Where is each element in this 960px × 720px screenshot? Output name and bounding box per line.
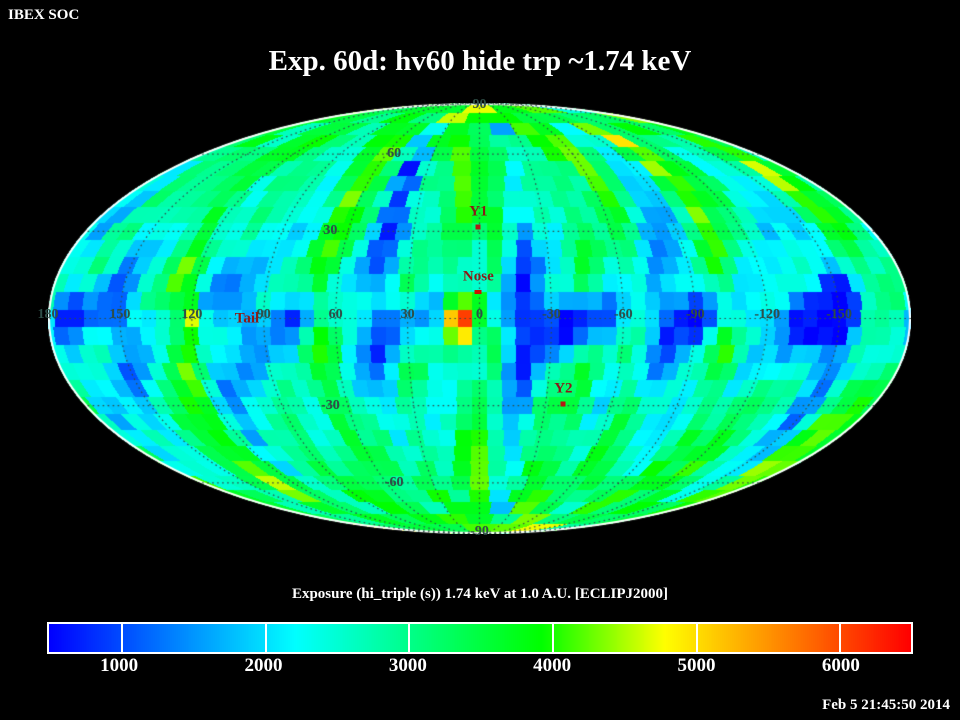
screenshot-root: IBEX SOC Exp. 60d: hv60 hide trp ~1.74 k… xyxy=(0,0,960,720)
colorbar-divider-4000 xyxy=(552,624,554,652)
latitude-label-30: 30 xyxy=(323,223,337,239)
longitude-label-0: 0 xyxy=(476,307,483,323)
longitude-label-150: 150 xyxy=(109,307,130,323)
poi-label-y1: Y1 xyxy=(469,204,487,221)
latitude-label-neg30: -30 xyxy=(321,398,340,414)
colorbar-tick-1000: 1000 xyxy=(100,655,138,677)
ibex-soc-watermark: IBEX SOC xyxy=(8,7,79,24)
latitude-label-90: 90 xyxy=(473,97,487,113)
poi-label-nose: Nose xyxy=(463,269,494,286)
longitude-label-30: 30 xyxy=(401,307,415,323)
colorbar-divider-6000 xyxy=(839,624,841,652)
longitude-label-120: 120 xyxy=(181,307,202,323)
colorbar-gradient xyxy=(49,624,911,652)
render-timestamp: Feb 5 21:45:50 2014 xyxy=(822,697,950,714)
poi-marker-y1 xyxy=(476,225,481,230)
longitude-label-neg150: -150 xyxy=(826,307,852,323)
longitude-label-neg60: -60 xyxy=(614,307,633,323)
mollweide-exposure-map: 60300-30-60-90-120-15018015012090906030-… xyxy=(48,103,911,534)
colorbar-divider-1000 xyxy=(121,624,123,652)
colorbar-tick-4000: 4000 xyxy=(533,655,571,677)
colorbar-divider-2000 xyxy=(265,624,267,652)
latitude-label-60: 60 xyxy=(387,146,401,162)
latitude-label-neg60: -60 xyxy=(385,475,404,491)
map-label-overlay: 60300-30-60-90-120-15018015012090906030-… xyxy=(48,103,911,534)
colorbar xyxy=(47,622,913,654)
longitude-label-neg90: -90 xyxy=(686,307,705,323)
latitude-label-neg90: -90 xyxy=(470,524,489,540)
poi-label-tail: Tail xyxy=(235,310,259,327)
longitude-label-180: 180 xyxy=(38,307,59,323)
colorbar-caption: Exposure (hi_triple (s)) 1.74 keV at 1.0… xyxy=(0,586,960,603)
longitude-label-neg120: -120 xyxy=(754,307,780,323)
colorbar-divider-3000 xyxy=(408,624,410,652)
colorbar-divider-5000 xyxy=(696,624,698,652)
poi-label-y2: Y2 xyxy=(554,380,572,397)
poi-marker-nose xyxy=(475,290,482,294)
longitude-label-neg30: -30 xyxy=(542,307,561,323)
colorbar-tick-5000: 5000 xyxy=(678,655,716,677)
colorbar-tick-3000: 3000 xyxy=(389,655,427,677)
colorbar-tick-2000: 2000 xyxy=(245,655,283,677)
colorbar-tick-6000: 6000 xyxy=(822,655,860,677)
page-title: Exp. 60d: hv60 hide trp ~1.74 keV xyxy=(0,45,960,78)
longitude-label-60: 60 xyxy=(329,307,343,323)
poi-marker-y2 xyxy=(561,401,566,406)
